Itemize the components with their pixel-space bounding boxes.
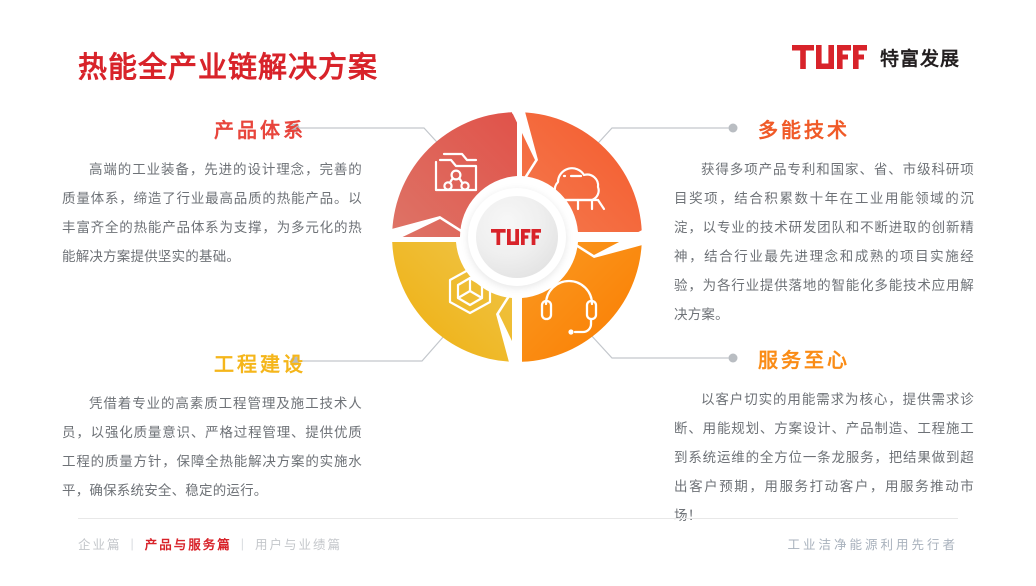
brand-name-cn: 特富发展 [880,44,960,71]
block-service-heading: 服务至心 [674,344,974,373]
block-tech-heading: 多能技术 [674,114,974,143]
footer-nav-separator-1: | [131,537,136,551]
block-service-body: 以客户切实的用能需求为核心，提供需求诊断、用能规划、方案设计、产品制造、工程施工… [674,385,974,530]
brand-logo: 特富发展 [792,44,960,70]
block-tech-body: 获得多项产品专利和国家、省、市级科研项目奖项，结合积累数十年在工业用能领域的沉淀… [674,155,974,329]
block-product-body: 高端的工业装备，先进的设计理念，完善的质量体系，缔造了行业最高品质的热能产品。以… [62,155,362,271]
page-title: 热能全产业链解决方案 [78,44,378,86]
footer-slogan: 工业洁净能源利用先行者 [787,534,958,553]
footer-divider [78,518,958,519]
block-engineering: 工程建设 凭借着专业的高素质工程管理及施工技术人员，以强化质量意识、严格过程管理… [62,348,362,505]
footer-nav: 企业篇 | 产品与服务篇 | 用户与业绩篇 [78,534,342,553]
tuff-center-logo-icon [491,229,543,245]
block-product-heading: 产品体系 [62,114,362,143]
block-tech: 多能技术 获得多项产品专利和国家、省、市级科研项目奖项，结合积累数十年在工业用能… [674,114,974,329]
slide-page: 热能全产业链解决方案 特富发展 [0,0,1036,586]
tuff-logo-icon [792,45,870,69]
wheel-center-hub [468,188,566,286]
footer-nav-item-yonghu[interactable]: 用户与业绩篇 [255,534,342,553]
block-engineering-body: 凭借着专业的高素质工程管理及施工技术人员，以强化质量意识、严格过程管理、提供优质… [62,389,362,505]
wheel-center-inner [476,196,558,278]
footer-nav-item-chanpin[interactable]: 产品与服务篇 [145,534,232,553]
block-engineering-heading: 工程建设 [62,348,362,377]
block-product: 产品体系 高端的工业装备，先进的设计理念，完善的质量体系，缔造了行业最高品质的热… [62,114,362,271]
footer-nav-separator-2: | [241,537,246,551]
block-service: 服务至心 以客户切实的用能需求为核心，提供需求诊断、用能规划、方案设计、产品制造… [674,344,974,530]
footer-nav-item-qiye[interactable]: 企业篇 [78,534,122,553]
